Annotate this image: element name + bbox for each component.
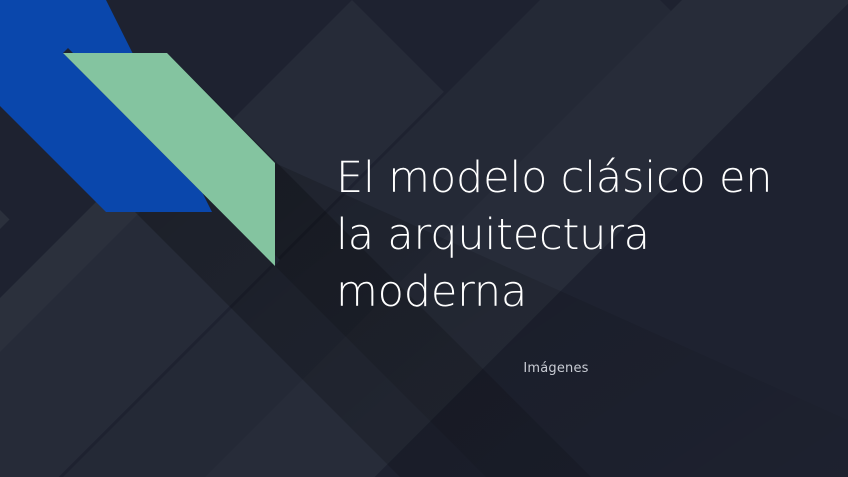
page-title: El modelo clásico en la arquitectura mod… [336, 150, 776, 321]
slide-subtitle: Imágenes [336, 321, 776, 376]
presentation-slide: El modelo clásico en la arquitectura mod… [0, 0, 848, 477]
title-text-block: El modelo clásico en la arquitectura mod… [336, 150, 776, 376]
